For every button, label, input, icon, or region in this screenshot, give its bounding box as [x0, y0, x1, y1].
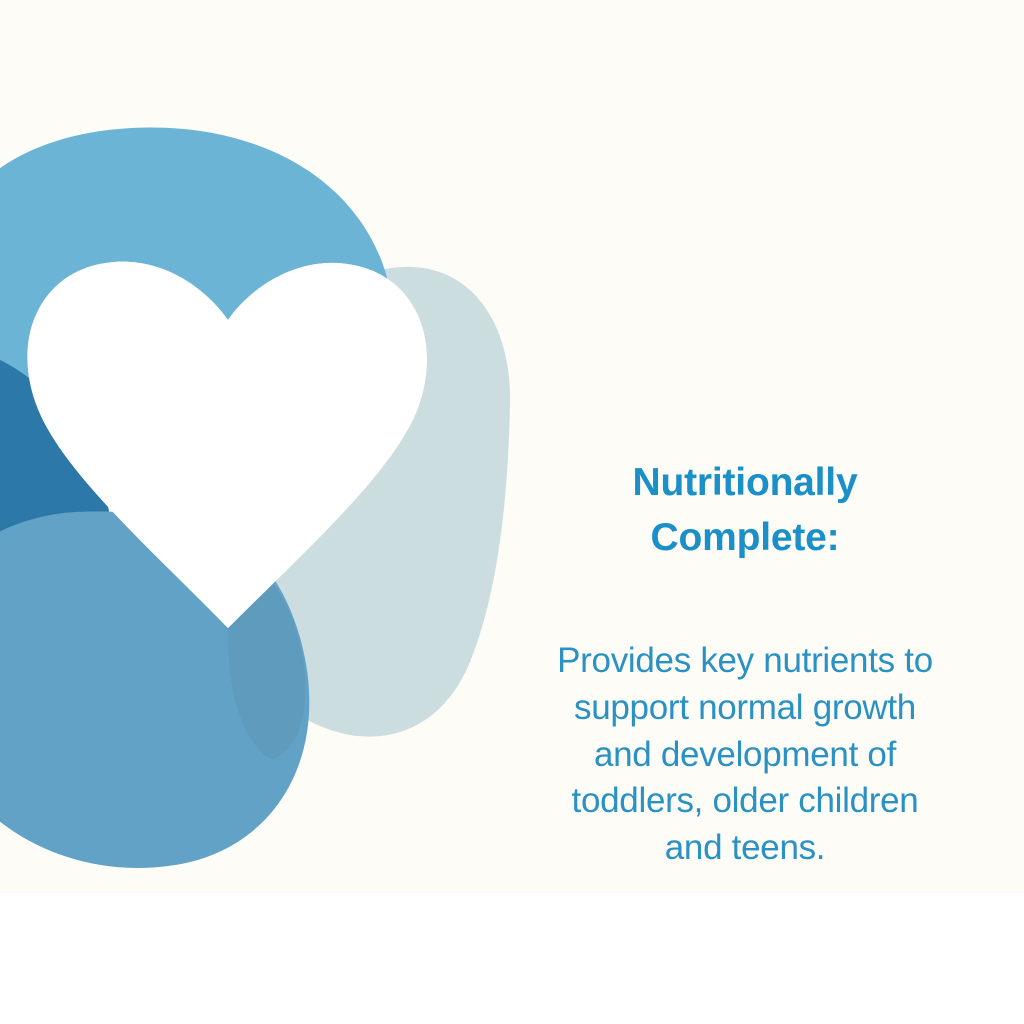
text-column: Nutritionally Complete: Provides key nut… [525, 455, 965, 872]
abstract-heart-blob-graphic [0, 0, 540, 893]
body-copy: Provides key nutrients to support normal… [525, 638, 965, 872]
slide-canvas: Nutritionally Complete: Provides key nut… [0, 0, 1024, 1024]
headline-line-1: Nutritionally [633, 461, 858, 504]
body-line-2: support normal growth [574, 688, 916, 727]
headline-line-2: Complete: [651, 516, 840, 559]
body-line-3: and development of [594, 735, 896, 774]
copy-spacer [525, 566, 965, 638]
page-title: Nutritionally Complete: [525, 455, 965, 566]
body-line-4: toddlers, older children [572, 781, 919, 820]
body-line-5: and teens. [665, 828, 825, 867]
body-line-1: Provides key nutrients to [557, 641, 933, 680]
